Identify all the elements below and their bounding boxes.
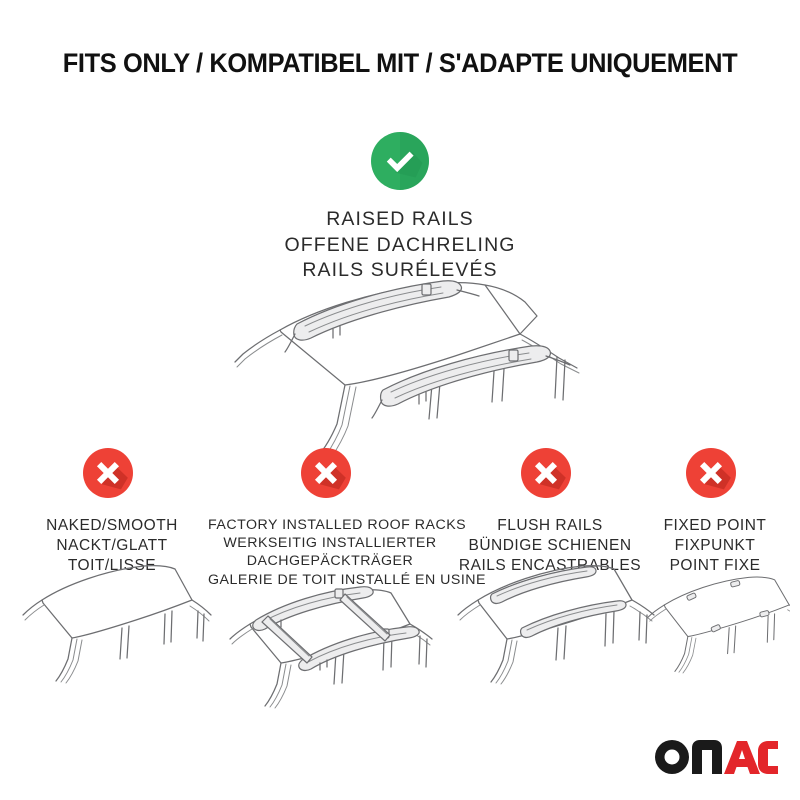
car-roof-naked-smooth-illustration [12, 556, 212, 696]
cross-circle-icon [521, 448, 579, 506]
car-roof-fixed-point-illustration [640, 556, 790, 696]
option-label-en: FIXED POINT [640, 516, 790, 536]
option-label-de: NACKT/GLATT [12, 536, 212, 556]
option-label-en: FLUSH RAILS [444, 516, 656, 536]
option-label-en: NAKED/SMOOTH [12, 516, 212, 536]
cross-circle-icon [301, 448, 359, 506]
option-fixed-point: FIXED POINT FIXPUNKT POINT FIXE [640, 448, 790, 575]
option-label-de-1: WERKSEITIG INSTALLIERTER [208, 534, 452, 552]
option-flush-rails: FLUSH RAILS BÜNDIGE SCHIENEN RAILS ENCAS… [444, 448, 656, 575]
car-roof-flush-rails-illustration [444, 556, 656, 696]
option-label-de-2: DACHGEPÄCKTRÄGER [208, 552, 452, 570]
option-label-de: BÜNDIGE SCHIENEN [444, 536, 656, 556]
check-circle-icon [371, 132, 429, 190]
incompatible-section: NAKED/SMOOTH NACKT/GLATT TOIT/LISSE [0, 448, 800, 748]
option-label-de: FIXPUNKT [640, 536, 790, 556]
compatible-label-de: OFFENE DACHRELING [0, 233, 800, 259]
option-naked-smooth: NAKED/SMOOTH NACKT/GLATT TOIT/LISSE [12, 448, 212, 575]
compatible-section: RAISED RAILS OFFENE DACHRELING RAILS SUR… [0, 132, 800, 284]
option-factory-roof-rack: FACTORY INSTALLED ROOF RACKS WERKSEITIG … [208, 448, 452, 589]
car-roof-factory-rack-illustration [208, 578, 452, 718]
cross-circle-icon [686, 448, 744, 506]
compatible-label-en: RAISED RAILS [0, 207, 800, 233]
omac-logo [654, 738, 778, 776]
page-title: FITS ONLY / KOMPATIBEL MIT / S'ADAPTE UN… [16, 48, 784, 79]
car-roof-raised-rails-illustration [185, 272, 615, 462]
cross-circle-icon [83, 448, 141, 506]
option-label-en: FACTORY INSTALLED ROOF RACKS [208, 516, 452, 534]
